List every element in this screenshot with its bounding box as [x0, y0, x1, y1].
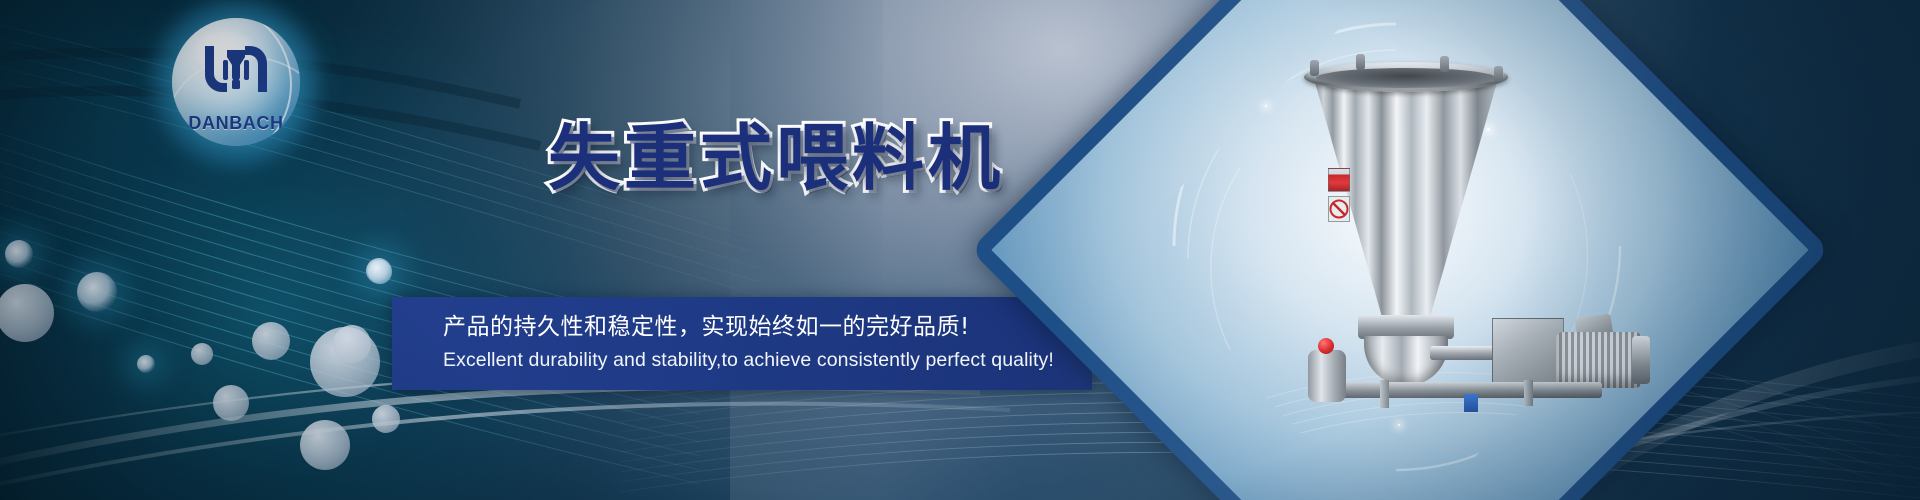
tagline-chinese: 产品的持久性和稳定性，实现始终如一的完好品质!	[443, 313, 1092, 342]
electric-motor	[1556, 332, 1642, 388]
rim-clamp	[1310, 60, 1319, 76]
loss-in-weight-feeder-image	[1280, 50, 1610, 370]
hopper-opening	[1316, 68, 1496, 88]
load-cell	[1308, 350, 1346, 402]
page-title: 失重式喂料机	[548, 122, 1004, 194]
blue-mount-block	[1464, 394, 1478, 412]
tagline-english: Excellent durability and stability,to ac…	[443, 346, 1092, 374]
rim-clamp	[1440, 56, 1449, 72]
product-banner: DANBACH 失重式喂料机 产品的持久性和稳定性，实现始终如一的完好品质! E…	[0, 0, 1920, 500]
motor-fan-cover	[1632, 336, 1650, 384]
rim-clamp	[1356, 54, 1365, 70]
support-leg	[1380, 380, 1389, 408]
logo-wordmark: DANBACH	[188, 113, 283, 134]
danbach-logo[interactable]: DANBACH	[172, 18, 300, 146]
red-warning-label	[1328, 168, 1350, 192]
red-indicator-knob	[1318, 338, 1334, 354]
danbach-monogram-icon	[199, 40, 273, 98]
support-leg	[1524, 380, 1533, 406]
rim-clamp	[1494, 66, 1503, 82]
no-hands-warning-label	[1328, 196, 1350, 222]
tagline-box: 产品的持久性和稳定性，实现始终如一的完好品质! Excellent durabi…	[392, 297, 1092, 390]
logo-sphere: DANBACH	[172, 18, 300, 146]
background-left-teal	[0, 0, 883, 500]
sparkle-icon	[1265, 105, 1267, 107]
sparkle-icon	[1398, 424, 1400, 426]
